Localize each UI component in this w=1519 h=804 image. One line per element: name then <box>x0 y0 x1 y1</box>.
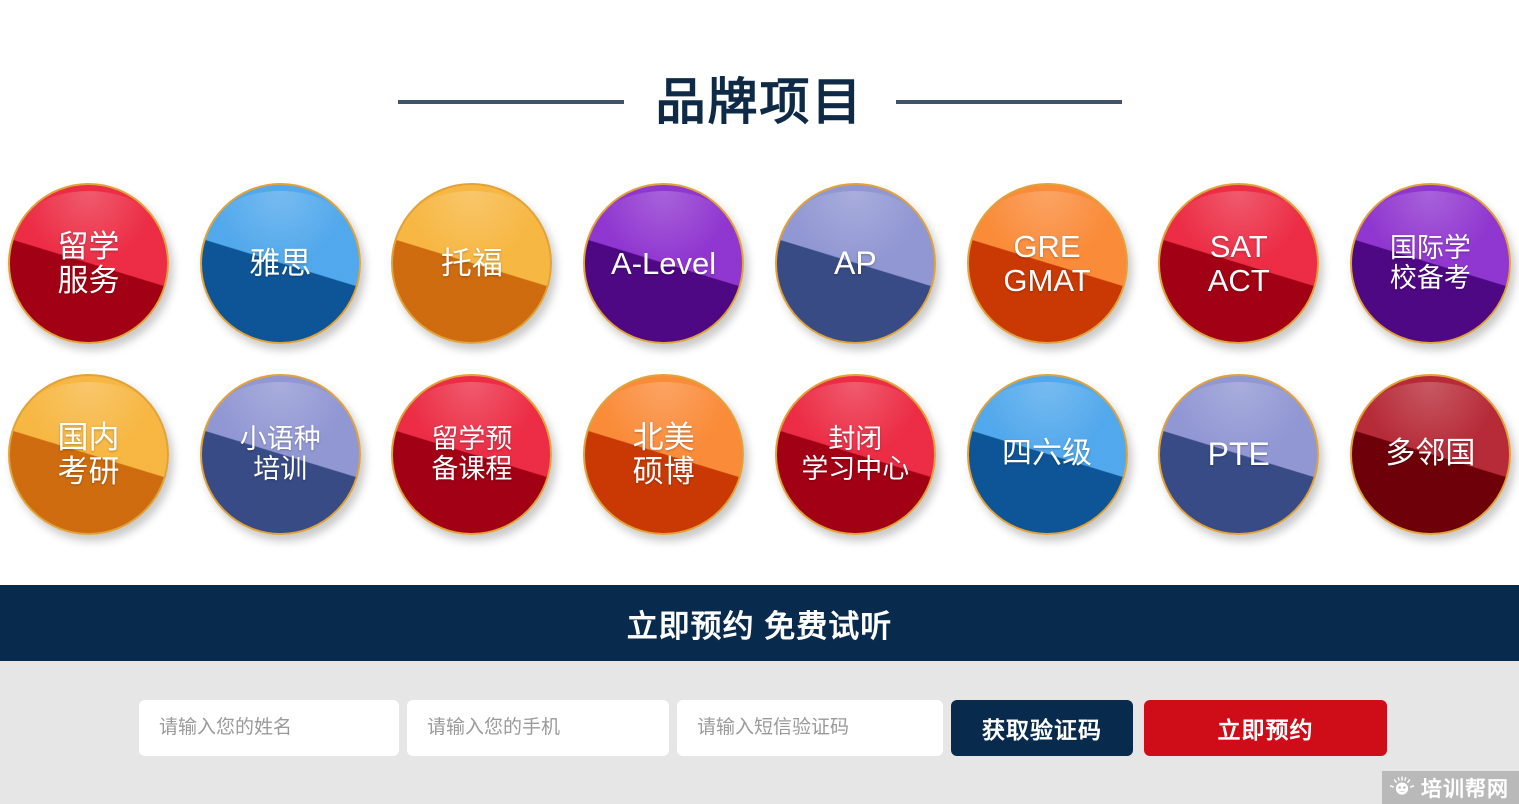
bubble-face[interactable]: 封闭 学习中心 <box>775 374 936 535</box>
program-label: A-Level <box>605 247 722 280</box>
sms-code-input[interactable] <box>677 700 943 756</box>
bubble-face[interactable]: 多邻国 <box>1350 374 1511 535</box>
program-label: 雅思 <box>243 247 317 280</box>
program-bubble-ielts[interactable]: 雅思 <box>200 183 361 344</box>
program-label: 多邻国 <box>1379 438 1481 470</box>
program-label: 国内 考研 <box>52 421 126 488</box>
program-bubble-north-america-masters-phd[interactable]: 北美 硕博 <box>583 374 744 535</box>
bubble-face[interactable]: SAT ACT <box>1158 183 1319 344</box>
program-label: 国际学 校备考 <box>1384 234 1477 292</box>
program-label: 北美 硕博 <box>627 421 701 488</box>
bubble-face[interactable]: 国际学 校备考 <box>1350 183 1511 344</box>
program-label: 留学预 备课程 <box>425 425 518 483</box>
program-label: AP <box>828 246 883 281</box>
bubble-face[interactable]: A-Level <box>583 183 744 344</box>
program-bubble-study-abroad-prep-course[interactable]: 留学预 备课程 <box>391 374 552 535</box>
program-bubble-cet-4-6[interactable]: 四六级 <box>967 374 1128 535</box>
program-bubble-domestic-postgrad-exam[interactable]: 国内 考研 <box>8 374 169 535</box>
program-bubble-closed-study-center[interactable]: 封闭 学习中心 <box>775 374 936 535</box>
program-label: GRE GMAT <box>997 230 1096 297</box>
program-grid: 留学 服务雅思托福A-LevelAPGRE GMATSAT ACT国际学 校备考… <box>0 183 1519 565</box>
bubble-face[interactable]: 国内 考研 <box>8 374 169 535</box>
booking-form-strip: 获取验证码 立即预约 <box>0 661 1519 804</box>
booking-form: 获取验证码 立即预约 <box>139 700 1387 756</box>
page-title: 品牌项目 <box>656 77 864 127</box>
heading-rule-left <box>398 100 624 104</box>
cta-banner: 立即预约 免费试听 <box>0 585 1519 661</box>
program-bubble-international-school-prep[interactable]: 国际学 校备考 <box>1350 183 1511 344</box>
phone-input[interactable] <box>407 700 669 756</box>
program-label: SAT ACT <box>1202 230 1276 297</box>
sun-face-icon <box>1390 776 1414 800</box>
bubble-face[interactable]: 四六级 <box>967 374 1128 535</box>
section-heading: 品牌项目 <box>0 62 1519 142</box>
program-bubble-duolingo[interactable]: 多邻国 <box>1350 374 1511 535</box>
program-bubble-ap[interactable]: AP <box>775 183 936 344</box>
program-bubble-pte[interactable]: PTE <box>1158 374 1319 535</box>
program-label: 小语种 培训 <box>234 425 327 483</box>
program-bubble-minor-language-training[interactable]: 小语种 培训 <box>200 374 361 535</box>
program-label: 托福 <box>435 247 509 280</box>
bubble-face[interactable]: 北美 硕博 <box>583 374 744 535</box>
bubble-face[interactable]: AP <box>775 183 936 344</box>
cta-banner-text: 立即预约 免费试听 <box>627 601 893 646</box>
name-input[interactable] <box>139 700 399 756</box>
program-bubble-toefl[interactable]: 托福 <box>391 183 552 344</box>
program-row-1: 留学 服务雅思托福A-LevelAPGRE GMATSAT ACT国际学 校备考 <box>0 183 1519 344</box>
program-bubble-overseas-study-service[interactable]: 留学 服务 <box>8 183 169 344</box>
program-bubble-sat-act[interactable]: SAT ACT <box>1158 183 1319 344</box>
program-label: 封闭 学习中心 <box>795 425 915 483</box>
bubble-face[interactable]: 留学 服务 <box>8 183 169 344</box>
program-bubble-a-level[interactable]: A-Level <box>583 183 744 344</box>
bubble-face[interactable]: 托福 <box>391 183 552 344</box>
bubble-face[interactable]: 雅思 <box>200 183 361 344</box>
bubble-face[interactable]: 小语种 培训 <box>200 374 361 535</box>
site-watermark: 培训帮网 <box>1382 771 1519 804</box>
program-label: 四六级 <box>996 438 1098 470</box>
program-bubble-gre-gmat[interactable]: GRE GMAT <box>967 183 1128 344</box>
program-label: 留学 服务 <box>52 230 126 297</box>
program-row-2: 国内 考研小语种 培训留学预 备课程北美 硕博封闭 学习中心四六级PTE多邻国 <box>0 374 1519 535</box>
submit-booking-button[interactable]: 立即预约 <box>1144 700 1387 756</box>
bubble-face[interactable]: PTE <box>1158 374 1319 535</box>
bubble-face[interactable]: 留学预 备课程 <box>391 374 552 535</box>
page-root: 品牌项目 留学 服务雅思托福A-LevelAPGRE GMATSAT ACT国际… <box>0 0 1519 804</box>
get-sms-code-button[interactable]: 获取验证码 <box>951 700 1133 756</box>
program-label: PTE <box>1202 437 1276 472</box>
bubble-face[interactable]: GRE GMAT <box>967 183 1128 344</box>
heading-rule-right <box>896 100 1122 104</box>
watermark-label: 培训帮网 <box>1421 773 1509 803</box>
